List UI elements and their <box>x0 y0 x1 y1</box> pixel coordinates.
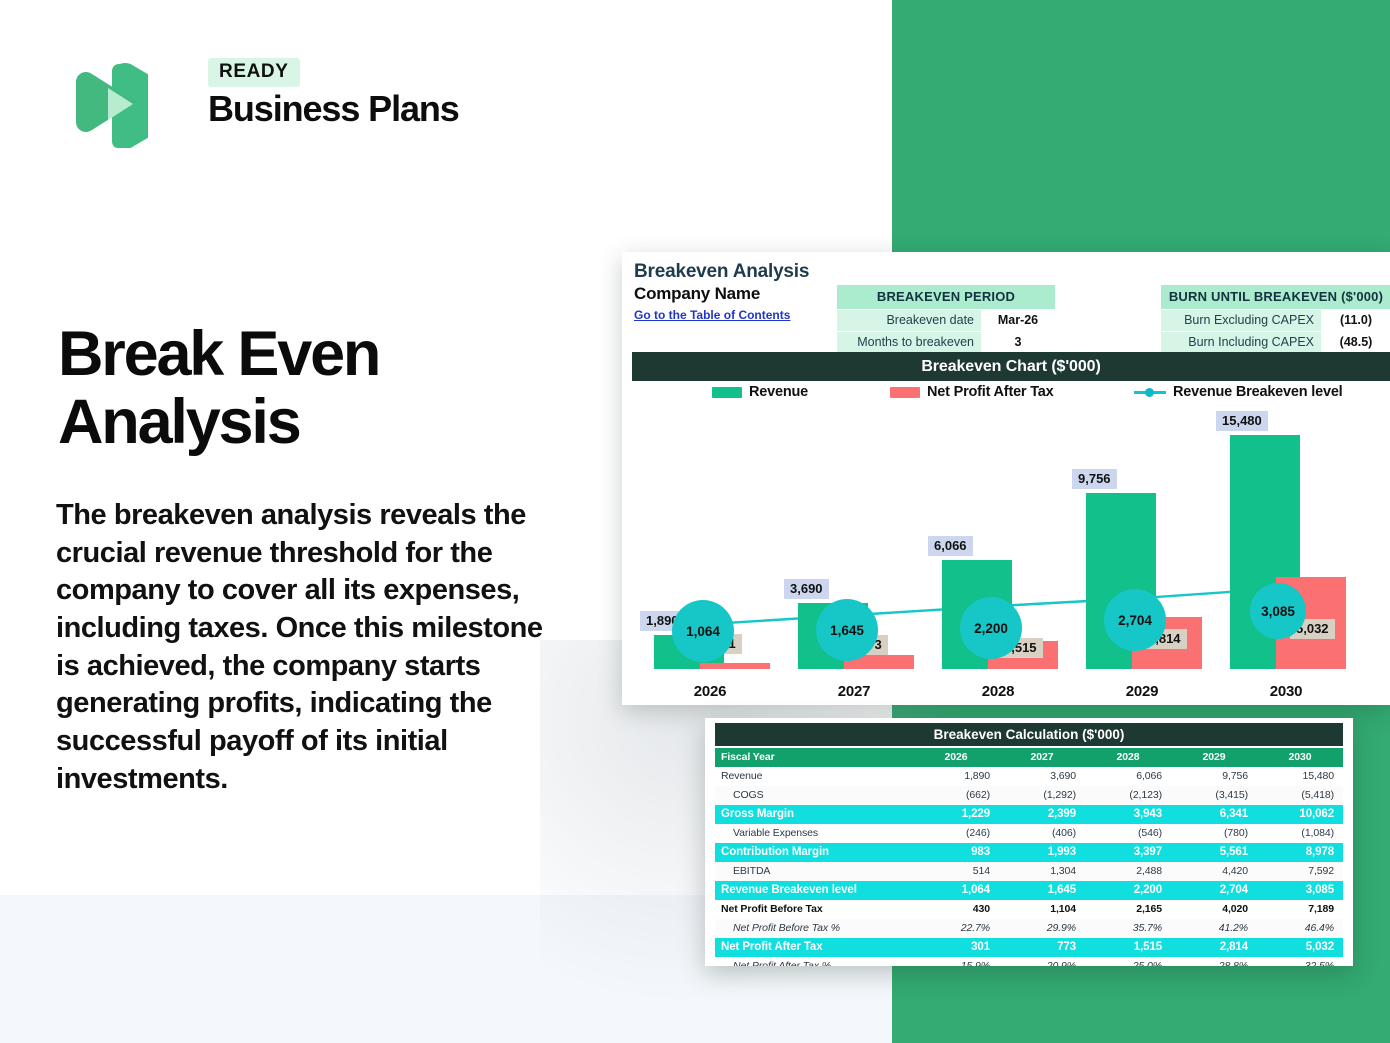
table-cell: 4,020 <box>1171 900 1257 919</box>
marker-breakeven-2026[interactable]: 1,064 <box>672 600 734 662</box>
burn-including-capex-row: Burn Including CAPEX (48.5) <box>1160 332 1390 354</box>
table-of-contents-link[interactable]: Go to the Table of Contents <box>634 308 790 322</box>
legend-item-revenue-breakeven-level[interactable]: Revenue Breakeven level <box>1134 384 1343 400</box>
table-cell: 25.0% <box>1085 957 1171 966</box>
datalabel-revenue-2028: 6,066 <box>928 536 973 556</box>
table-cell: 2,200 <box>1085 881 1171 900</box>
table-cell: 1,645 <box>999 881 1085 900</box>
table-row-label: Gross Margin <box>715 805 913 824</box>
table-row: Variable Expenses(246)(406)(546)(780)(1,… <box>715 824 1343 843</box>
chart-banner-title: Breakeven Chart ($'000) <box>632 352 1390 381</box>
table-cell: 773 <box>999 938 1085 957</box>
page-paragraph: The breakeven analysis reveals the cruci… <box>56 497 556 799</box>
table-cell: 3,690 <box>999 767 1085 786</box>
table-cell: 6,341 <box>1171 805 1257 824</box>
table-header-year-2029: 2029 <box>1171 748 1257 767</box>
breakeven-period-kpi: BREAKEVEN PERIOD Breakeven date Mar-26 M… <box>836 284 1056 354</box>
legend-label-breakeven: Revenue Breakeven level <box>1173 384 1343 400</box>
chart-plot-area: 1,890 301 1,064 2026 3,690 773 1,645 202… <box>622 414 1390 669</box>
marker-breakeven-2030[interactable]: 3,085 <box>1250 583 1306 639</box>
table-row: EBITDA5141,3042,4884,4207,592 <box>715 862 1343 881</box>
breakeven-date-label: Breakeven date <box>837 310 981 331</box>
table-cell: 6,066 <box>1085 767 1171 786</box>
table-header-year-2028: 2028 <box>1085 748 1171 767</box>
table-row: Net Profit Before Tax4301,1042,1654,0207… <box>715 900 1343 919</box>
sheet-header: Breakeven Analysis Company Name Go to th… <box>622 252 1390 348</box>
chart-group-2026: 1,890 301 1,064 2026 <box>638 414 782 669</box>
breakeven-chart-card: Breakeven Analysis Company Name Go to th… <box>622 252 1390 705</box>
xaxis-label-2029: 2029 <box>1070 683 1214 700</box>
table-header-year-2026: 2026 <box>913 748 999 767</box>
table-row: Net Profit Before Tax %22.7%29.9%35.7%41… <box>715 919 1343 938</box>
table-cell: (780) <box>1171 824 1257 843</box>
table-cell: (406) <box>999 824 1085 843</box>
table-cell: 430 <box>913 900 999 919</box>
table-cell: 32.5% <box>1257 957 1343 966</box>
table-cell: 7,189 <box>1257 900 1343 919</box>
table-cell: 1,304 <box>999 862 1085 881</box>
xaxis-label-2030: 2030 <box>1214 683 1358 700</box>
xaxis-label-2028: 2028 <box>926 683 1070 700</box>
table-row-label: Net Profit After Tax <box>715 938 913 957</box>
table-cell: 41.2% <box>1171 919 1257 938</box>
table-row-label: EBITDA <box>715 862 913 881</box>
marker-breakeven-2028[interactable]: 2,200 <box>960 597 1022 659</box>
table-row: Net Profit After Tax3017731,5152,8145,03… <box>715 938 1343 957</box>
table-cell: 9,756 <box>1171 767 1257 786</box>
table-cell: (662) <box>913 786 999 805</box>
top-right-green-panel <box>892 0 1390 252</box>
legend-item-revenue[interactable]: Revenue <box>712 384 808 400</box>
table-header-fiscal-year: Fiscal Year <box>715 748 913 767</box>
table-row: Net Profit After Tax %15.9%20.9%25.0%28.… <box>715 957 1343 966</box>
months-to-breakeven-label: Months to breakeven <box>837 332 981 353</box>
table-cell: 28.8% <box>1171 957 1257 966</box>
table-cell: 46.4% <box>1257 919 1343 938</box>
table-cell: 514 <box>913 862 999 881</box>
table-cell: (5,418) <box>1257 786 1343 805</box>
table-cell: 3,085 <box>1257 881 1343 900</box>
table-cell: (1,292) <box>999 786 1085 805</box>
months-to-breakeven-value[interactable]: 3 <box>981 332 1055 353</box>
legend-label-revenue: Revenue <box>749 384 808 400</box>
table-cell: 1,229 <box>913 805 999 824</box>
table-cell: 29.9% <box>999 919 1085 938</box>
chart-group-2028: 6,066 1,515 2,200 2028 <box>926 414 1070 669</box>
table-cell: 22.7% <box>913 919 999 938</box>
marker-breakeven-2027[interactable]: 1,645 <box>816 599 878 661</box>
legend-item-net-profit-after-tax[interactable]: Net Profit After Tax <box>890 384 1054 400</box>
table-cell: 10,062 <box>1257 805 1343 824</box>
table-cell: (2,123) <box>1085 786 1171 805</box>
play-triangle-logo-icon <box>60 58 148 148</box>
brand-logo: READY Business Plans <box>60 58 460 153</box>
burn-excluding-capex-label: Burn Excluding CAPEX <box>1161 310 1321 331</box>
table-cell: 15,480 <box>1257 767 1343 786</box>
burn-excluding-capex-row: Burn Excluding CAPEX (11.0) <box>1160 310 1390 332</box>
table-cell: 4,420 <box>1171 862 1257 881</box>
table-banner-title: Breakeven Calculation ($'000) <box>715 723 1343 746</box>
table-row-label: COGS <box>715 786 913 805</box>
sheet-company: Company Name <box>634 284 760 304</box>
table-cell: 1,104 <box>999 900 1085 919</box>
table-row-label: Variable Expenses <box>715 824 913 843</box>
breakeven-calculation-card: Breakeven Calculation ($'000) Fiscal Yea… <box>705 718 1353 966</box>
table-cell: 8,978 <box>1257 843 1343 862</box>
xaxis-label-2026: 2026 <box>638 683 782 700</box>
table-header-year-2027: 2027 <box>999 748 1085 767</box>
table-row-label: Contribution Margin <box>715 843 913 862</box>
table-cell: 2,399 <box>999 805 1085 824</box>
table-row: Contribution Margin9831,9933,3975,5618,9… <box>715 843 1343 862</box>
datalabel-revenue-2027: 3,690 <box>784 579 829 599</box>
table-row: Revenue Breakeven level1,0641,6452,2002,… <box>715 881 1343 900</box>
page-title: Break Even Analysis <box>58 320 558 456</box>
datalabel-revenue-2029: 9,756 <box>1072 469 1117 489</box>
table-cell: 983 <box>913 843 999 862</box>
table-cell: (246) <box>913 824 999 843</box>
breakeven-date-value[interactable]: Mar-26 <box>981 310 1055 331</box>
brand-logo-text: READY Business Plans <box>208 58 459 128</box>
table-cell: 301 <box>913 938 999 957</box>
table-cell: 2,488 <box>1085 862 1171 881</box>
table-cell: 1,890 <box>913 767 999 786</box>
brand-name: Business Plans <box>208 90 459 128</box>
table-cell: 2,165 <box>1085 900 1171 919</box>
table-row-label: Net Profit After Tax % <box>715 957 913 966</box>
xaxis-label-2027: 2027 <box>782 683 926 700</box>
table-cell: 1,993 <box>999 843 1085 862</box>
table-cell: (3,415) <box>1171 786 1257 805</box>
table-cell: 2,704 <box>1171 881 1257 900</box>
table-cell: 5,561 <box>1171 843 1257 862</box>
chart-group-2027: 3,690 773 1,645 2027 <box>782 414 926 669</box>
burn-until-breakeven-kpi: BURN UNTIL BREAKEVEN ($'000) Burn Exclud… <box>1160 284 1390 354</box>
table-cell: 2,814 <box>1171 938 1257 957</box>
bar-npat-2026[interactable] <box>700 663 770 669</box>
table-header-row: Fiscal Year20262027202820292030 <box>715 748 1343 767</box>
datalabel-revenue-2030: 15,480 <box>1216 411 1268 431</box>
breakeven-calculation-table: Fiscal Year20262027202820292030Revenue1,… <box>715 748 1343 966</box>
table-header-year-2030: 2030 <box>1257 748 1343 767</box>
burn-including-capex-value[interactable]: (48.5) <box>1321 332 1390 353</box>
breakeven-date-row: Breakeven date Mar-26 <box>836 310 1056 332</box>
table-cell: (546) <box>1085 824 1171 843</box>
table-cell: 3,397 <box>1085 843 1171 862</box>
legend-line-marker-icon <box>1134 387 1166 398</box>
table-cell: 7,592 <box>1257 862 1343 881</box>
chart-group-2030: 15,480 5,032 3,085 2030 <box>1214 414 1358 669</box>
table-row: Revenue1,8903,6906,0669,75615,480 <box>715 767 1343 786</box>
legend-swatch-icon-revenue <box>712 387 742 398</box>
legend-label-npat: Net Profit After Tax <box>927 384 1054 400</box>
table-row-label: Revenue <box>715 767 913 786</box>
breakeven-period-title: BREAKEVEN PERIOD <box>836 284 1056 310</box>
marker-breakeven-2029[interactable]: 2,704 <box>1104 589 1166 651</box>
table-row: COGS(662)(1,292)(2,123)(3,415)(5,418) <box>715 786 1343 805</box>
burn-including-capex-label: Burn Including CAPEX <box>1161 332 1321 353</box>
legend-swatch-icon-npat <box>890 387 920 398</box>
table-cell: 20.9% <box>999 957 1085 966</box>
table-row-label: Revenue Breakeven level <box>715 881 913 900</box>
table-row: Gross Margin1,2292,3993,9436,34110,062 <box>715 805 1343 824</box>
burn-until-breakeven-title: BURN UNTIL BREAKEVEN ($'000) <box>1160 284 1390 310</box>
chart-legend: Revenue Net Profit After Tax Revenue Bre… <box>622 384 1390 408</box>
table-cell: 1,064 <box>913 881 999 900</box>
table-row-label: Net Profit Before Tax <box>715 900 913 919</box>
table-cell: 35.7% <box>1085 919 1171 938</box>
sheet-title: Breakeven Analysis <box>634 261 809 283</box>
table-cell: 1,515 <box>1085 938 1171 957</box>
ready-badge: READY <box>208 58 300 87</box>
table-cell: (1,084) <box>1257 824 1343 843</box>
months-to-breakeven-row: Months to breakeven 3 <box>836 332 1056 354</box>
table-cell: 3,943 <box>1085 805 1171 824</box>
table-row-label: Net Profit Before Tax % <box>715 919 913 938</box>
burn-excluding-capex-value[interactable]: (11.0) <box>1321 310 1390 331</box>
table-cell: 5,032 <box>1257 938 1343 957</box>
chart-group-2029: 9,756 2,814 2,704 2029 <box>1070 414 1214 669</box>
table-cell: 15.9% <box>913 957 999 966</box>
